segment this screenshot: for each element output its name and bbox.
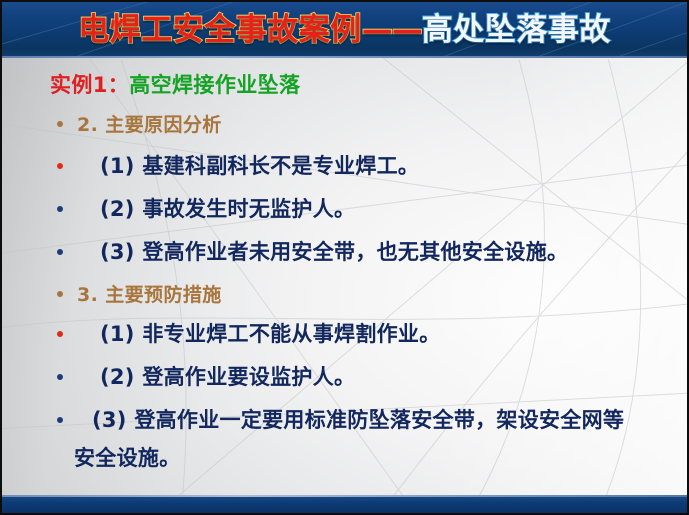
list-item-text: (2) 登高作业要设监护人。 bbox=[100, 361, 355, 391]
list-item-text-continuation: 安全设施。 bbox=[74, 442, 181, 472]
page-title-red-part: 电焊工安全事故案例 bbox=[78, 12, 362, 48]
bullet-icon bbox=[57, 374, 63, 380]
list-item-text: (1) 非专业焊工不能从事焊割作业。 bbox=[100, 318, 441, 348]
list-item-text: (3) 登高作业一定要用标准防坠落安全带，架设安全网等 bbox=[92, 404, 624, 434]
bullet-icon bbox=[57, 121, 63, 127]
title-bar-underline bbox=[2, 56, 687, 58]
bullet-icon bbox=[57, 163, 63, 169]
slide-body: 实例1：高空焊接作业坠落 2. 主要原因分析 (1) 基建科副科长不是专业焊工。… bbox=[2, 60, 689, 497]
bullet-icon bbox=[57, 249, 63, 255]
list-item-text: (3) 登高作业者未用安全带，也无其他安全设施。 bbox=[100, 236, 568, 266]
bullet-icon bbox=[57, 291, 63, 297]
footer-topline bbox=[2, 495, 687, 497]
section-heading-label: 2. 主要原因分析 bbox=[77, 110, 222, 137]
bullet-icon bbox=[57, 331, 63, 337]
slide-footer-bar bbox=[2, 495, 687, 513]
section-heading-label: 3. 主要预防措施 bbox=[77, 280, 222, 307]
slide-title-bar: 电焊工安全事故案例——高处坠落事故 bbox=[2, 2, 687, 58]
example-heading-label: 实例1： bbox=[50, 73, 129, 97]
page-title-white-part: 高处坠落事故 bbox=[422, 12, 611, 48]
list-item-text: (1) 基建科副科长不是专业焊工。 bbox=[100, 150, 419, 180]
page-title-dash: —— bbox=[362, 12, 422, 48]
bullet-icon bbox=[57, 417, 63, 423]
slide: 电焊工安全事故案例——高处坠落事故 实例1：高空焊接作业坠落 2. 主要原因分析… bbox=[0, 0, 689, 515]
list-item-text: (2) 事故发生时无监护人。 bbox=[100, 193, 355, 223]
example-heading-title: 高空焊接作业坠落 bbox=[129, 73, 300, 97]
example-heading: 实例1：高空焊接作业坠落 bbox=[50, 69, 300, 99]
bullet-icon bbox=[57, 206, 63, 212]
page-title: 电焊工安全事故案例——高处坠落事故 bbox=[2, 6, 687, 54]
